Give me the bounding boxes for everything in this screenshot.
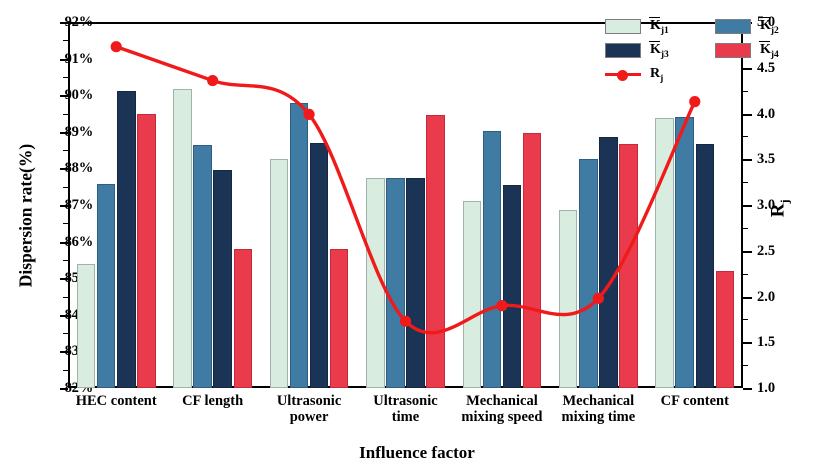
legend-swatch-k2	[715, 19, 751, 34]
y-axis-right-minor-tick	[743, 182, 748, 183]
bar-K_j1-6	[655, 118, 674, 388]
bar-K_j2-6	[675, 117, 694, 388]
y-axis-right-tick	[743, 159, 752, 161]
legend-label-subscript: j2	[771, 26, 779, 36]
bar-K_j2-4	[483, 131, 502, 388]
legend-item-Kj4[interactable]: Kj4	[715, 42, 779, 60]
y-axis-right-tick	[743, 205, 752, 207]
y-axis-left-tick	[60, 242, 68, 244]
y-axis-left-minor-tick	[63, 370, 68, 371]
bar-K_j3-5	[599, 137, 618, 388]
y-axis-left-tick	[60, 22, 68, 24]
bar-K_j3-6	[696, 144, 715, 388]
legend-label-subscript: j4	[771, 50, 779, 60]
y-axis-right-tick	[743, 251, 752, 253]
legend-label: Kj1	[650, 18, 669, 36]
bar-K_j2-3	[386, 178, 405, 388]
y-axis-left-minor-tick	[63, 333, 68, 334]
y-axis-left-minor-tick	[63, 114, 68, 115]
x-axis-title: Influence factor	[0, 443, 834, 463]
legend-swatch-k4	[715, 43, 751, 58]
y-axis-left-tick	[60, 59, 68, 61]
bar-K_j4-6	[716, 271, 735, 388]
legend-line-marker-icon	[605, 67, 641, 82]
legend-label-symbol: R	[650, 66, 660, 81]
y-axis-right-tick-label: 3.5	[757, 152, 807, 167]
bar-K_j1-1	[173, 89, 192, 388]
y-axis-right-tick	[743, 342, 752, 344]
y-axis-right-tick-label: 1.5	[757, 335, 807, 350]
y-axis-left-minor-tick	[63, 260, 68, 261]
y-axis-right-tick-label: 2.0	[757, 289, 807, 304]
y-axis-left-minor-tick	[63, 223, 68, 224]
bar-K_j4-3	[426, 115, 445, 388]
bar-K_j1-4	[463, 201, 482, 388]
y-axis-right-tick	[743, 114, 752, 116]
legend-label-subscript: j	[660, 74, 663, 84]
legend-label: Rj	[650, 66, 663, 84]
legend-label-symbol: K	[760, 18, 771, 34]
bar-K_j1-3	[366, 178, 385, 388]
y-axis-left-tick	[60, 351, 68, 353]
y-axis-right-minor-tick	[743, 274, 748, 275]
y-axis-left-minor-tick	[63, 150, 68, 151]
y-axis-left-tick	[60, 278, 68, 280]
bar-K_j2-2	[290, 103, 309, 388]
y-axis-left-minor-tick	[63, 77, 68, 78]
y-axis-right-minor-tick	[743, 365, 748, 366]
y-axis-left-minor-tick	[63, 187, 68, 188]
y-axis-right-tick	[743, 297, 752, 299]
bar-K_j4-4	[523, 133, 542, 388]
y-axis-right-tick-label: 2.5	[757, 244, 807, 259]
legend-label-subscript: j1	[661, 26, 669, 36]
bar-K_j2-1	[193, 145, 212, 388]
legend-item-Kj2[interactable]: Kj2	[715, 18, 779, 36]
bar-K_j3-0	[117, 91, 136, 388]
y-axis-right-minor-tick	[743, 319, 748, 320]
bar-K_j3-4	[503, 185, 522, 388]
y-axis-right-tick	[743, 388, 752, 390]
bar-K_j1-5	[559, 210, 578, 388]
y-axis-left-tick	[60, 388, 68, 390]
legend-swatch-k3	[605, 43, 641, 58]
y-axis-left-minor-tick	[63, 297, 68, 298]
y-axis-left-minor-tick	[63, 40, 68, 41]
y-axis-right-tick-label: 4.0	[757, 106, 807, 121]
bar-K_j4-2	[330, 249, 349, 388]
bar-K_j3-2	[310, 143, 329, 388]
y-axis-right-tick-label: 3.0	[757, 198, 807, 213]
legend-label: Kj4	[760, 42, 779, 60]
y-axis-left-tick	[60, 132, 68, 134]
chart-figure: Dispersion rate(%) Rj Influence factor 8…	[0, 0, 834, 473]
legend-label: Kj2	[760, 18, 779, 36]
bar-K_j3-1	[213, 170, 232, 388]
legend-item-Kj3[interactable]: Kj3	[605, 42, 669, 60]
legend-label-symbol: K	[760, 42, 771, 58]
bar-K_j4-5	[619, 144, 638, 388]
legend-swatch-k1	[605, 19, 641, 34]
y-axis-right-minor-tick	[743, 228, 748, 229]
legend-label-symbol: K	[650, 18, 661, 34]
bar-K_j4-0	[137, 114, 156, 389]
y-axis-right-tick-label: 1.0	[757, 381, 807, 396]
y-axis-left-tick	[60, 168, 68, 170]
bar-K_j3-3	[406, 178, 425, 388]
y-axis-left-tick	[60, 95, 68, 97]
x-axis-category-label: CF content	[639, 393, 751, 409]
bar-K_j1-0	[77, 264, 96, 388]
legend-item-Rj[interactable]: Rj	[605, 66, 663, 84]
legend-item-Kj1[interactable]: Kj1	[605, 18, 669, 36]
legend-label: Kj3	[650, 42, 669, 60]
legend-label-symbol: K	[650, 42, 661, 58]
legend-label-subscript: j3	[661, 50, 669, 60]
y-axis-right-minor-tick	[743, 136, 748, 137]
bar-K_j2-0	[97, 184, 116, 388]
bar-K_j2-5	[579, 159, 598, 388]
y-axis-left-tick	[60, 315, 68, 317]
legend: Kj1Kj2Kj3Kj4Rj	[605, 18, 805, 92]
y-axis-left-tick	[60, 205, 68, 207]
bar-K_j1-2	[270, 159, 289, 388]
bar-K_j4-1	[234, 249, 253, 388]
